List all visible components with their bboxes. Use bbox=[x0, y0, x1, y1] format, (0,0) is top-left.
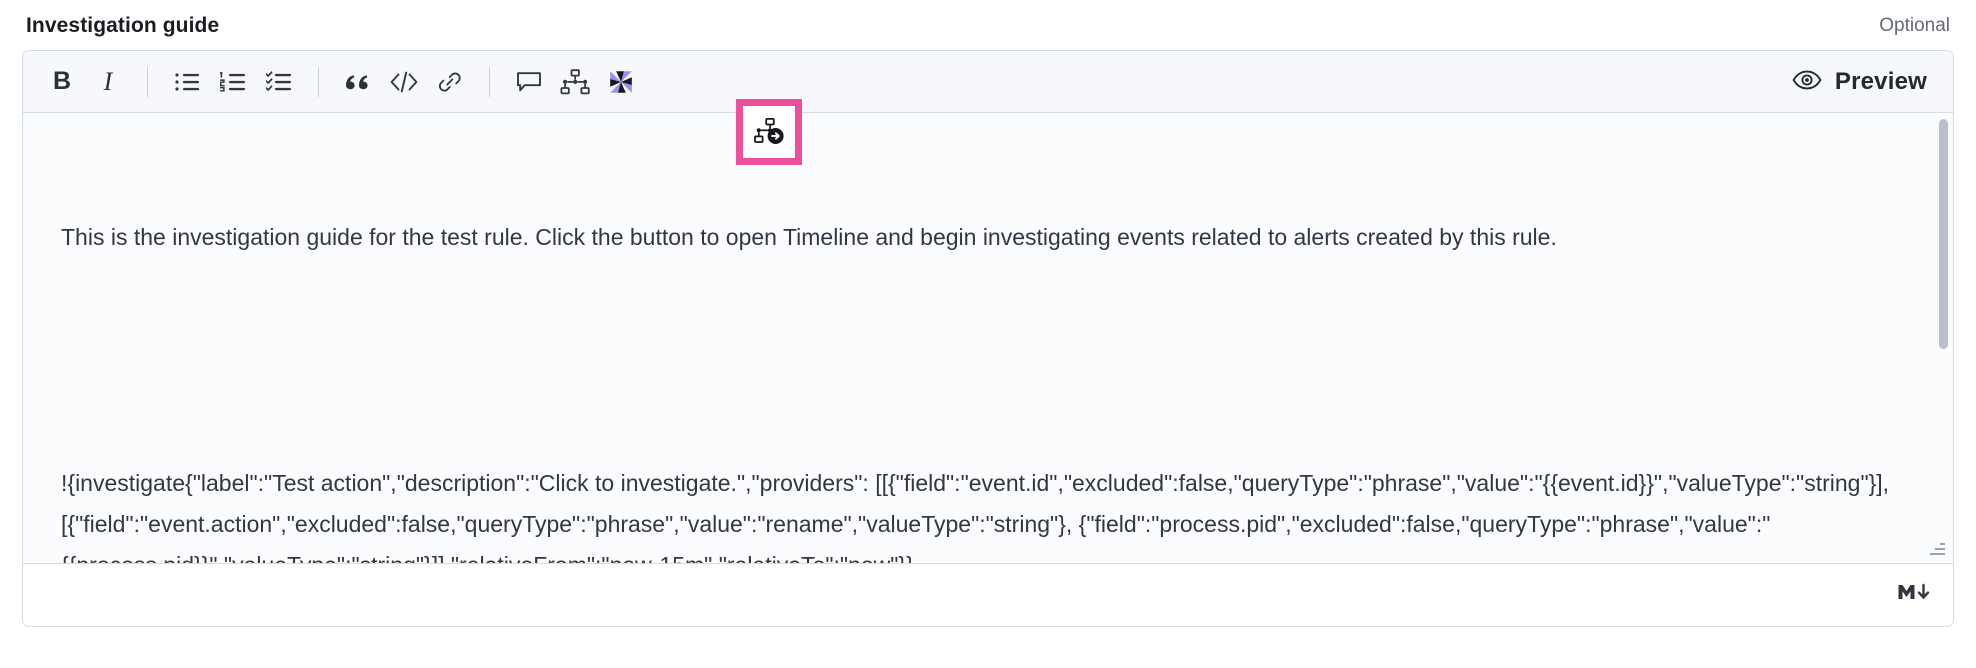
numbered-list-icon bbox=[220, 71, 246, 93]
comment-bubble-icon bbox=[515, 70, 543, 94]
toolbar-group-text-style: B I bbox=[39, 60, 131, 104]
osquery-button[interactable] bbox=[598, 60, 644, 104]
markdown-syntax-badge[interactable] bbox=[1897, 580, 1931, 610]
textarea-scrollbar[interactable] bbox=[1939, 119, 1948, 557]
editor-footer bbox=[23, 564, 1953, 626]
field-header-row: Investigation guide Optional bbox=[0, 0, 1976, 52]
code-button[interactable] bbox=[381, 60, 427, 104]
timeline-button[interactable] bbox=[552, 60, 598, 104]
ordered-list-button[interactable] bbox=[210, 60, 256, 104]
quote-button[interactable] bbox=[335, 60, 381, 104]
toolbar-group-insert bbox=[335, 60, 473, 104]
timeline-icon bbox=[560, 69, 590, 95]
markdown-textarea[interactable]: This is the investigation guide for the … bbox=[23, 113, 1953, 563]
page-title: Investigation guide bbox=[26, 14, 219, 38]
markdown-text-content[interactable]: This is the investigation guide for the … bbox=[23, 113, 1953, 563]
investigate-timeline-button[interactable] bbox=[746, 110, 792, 154]
investigate-timeline-icon bbox=[753, 118, 785, 146]
eye-icon bbox=[1792, 69, 1822, 94]
bold-icon: B bbox=[53, 69, 71, 94]
checklist-icon bbox=[266, 71, 292, 93]
optional-badge: Optional bbox=[1879, 15, 1950, 37]
resize-grip-icon[interactable] bbox=[1928, 538, 1945, 555]
toolbar-group-lists bbox=[164, 60, 302, 104]
toolbar-group-security bbox=[506, 60, 644, 104]
scrollbar-thumb[interactable] bbox=[1939, 119, 1948, 349]
quote-icon bbox=[344, 71, 372, 93]
markdown-editor: B I bbox=[22, 50, 1954, 627]
italic-button[interactable]: I bbox=[85, 60, 131, 104]
osquery-icon bbox=[604, 66, 638, 98]
toolbar-divider-3 bbox=[489, 67, 490, 97]
bullet-list-icon bbox=[174, 71, 200, 93]
investigation-guide-panel: Investigation guide Optional B I bbox=[0, 0, 1976, 668]
code-icon bbox=[390, 71, 418, 93]
toolbar-divider-2 bbox=[318, 67, 319, 97]
task-list-button[interactable] bbox=[256, 60, 302, 104]
link-button[interactable] bbox=[427, 60, 473, 104]
highlight-annotation bbox=[736, 99, 802, 165]
toolbar-divider-1 bbox=[147, 67, 148, 97]
paragraph-investigate-action: !{investigate{"label":"Test action","des… bbox=[61, 463, 1913, 563]
italic-icon: I bbox=[104, 69, 113, 95]
paragraph-intro: This is the investigation guide for the … bbox=[61, 217, 1913, 258]
link-icon bbox=[437, 71, 463, 93]
unordered-list-button[interactable] bbox=[164, 60, 210, 104]
preview-button-label: Preview bbox=[1835, 68, 1927, 96]
comment-button[interactable] bbox=[506, 60, 552, 104]
bold-button[interactable]: B bbox=[39, 60, 85, 104]
editor-toolbar: B I bbox=[23, 51, 1953, 113]
preview-button[interactable]: Preview bbox=[1782, 60, 1939, 104]
markdown-down-arrow-icon bbox=[1897, 580, 1931, 610]
paragraph-blank-1 bbox=[61, 340, 1913, 381]
